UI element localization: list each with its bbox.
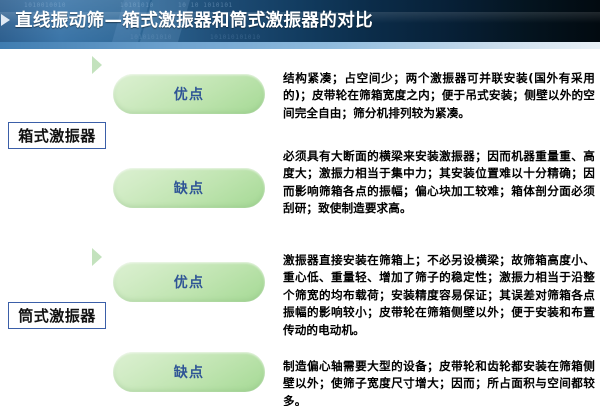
pill-disadvantages-box-type[interactable]: 缺点 bbox=[113, 168, 265, 208]
pill-label: 优点 bbox=[174, 272, 204, 292]
pill-label: 缺点 bbox=[174, 178, 204, 198]
pill-disadvantages-cylinder-type[interactable]: 缺点 bbox=[113, 352, 265, 392]
description-disadvantages-cylinder-type: 制造偏心轴需要大型的设备；皮带轮和齿轮都安装在筛箱侧壁以外；使筛子宽度尺寸增大；… bbox=[283, 358, 595, 406]
page-title: 直线振动筛—箱式激振器和筒式激振器的对比 bbox=[15, 7, 373, 32]
pill-advantages-cylinder-type[interactable]: 优点 bbox=[113, 262, 265, 302]
group-pointer-icon-bottom bbox=[92, 248, 102, 266]
binary-texture-icon: 101010101010 bbox=[210, 34, 261, 41]
pill-label: 缺点 bbox=[174, 362, 204, 382]
title-underline-band bbox=[0, 42, 600, 49]
description-disadvantages-box-type: 必须具有大断面的横梁来安装激振器；因而机器重量重、高度大；激振力相当于集中力；其… bbox=[283, 148, 595, 218]
group-pointer-icon-top bbox=[92, 56, 102, 74]
slide-title-bar: 1010010010 10101010 10 10 1010101 101010… bbox=[0, 0, 600, 42]
binary-texture-icon: 1010101010 bbox=[130, 34, 172, 41]
category-label-text: 筒式激振器 bbox=[18, 305, 96, 326]
category-label-box-box-type: 箱式激振器 bbox=[8, 122, 106, 149]
description-advantages-box-type: 结构紧凑；占空间少；两个激振器可并联安装(国外有采用的)；皮带轮在筛箱宽度之内；… bbox=[283, 70, 595, 122]
description-advantages-cylinder-type: 激振器直接安装在筛箱上；不必另设横梁；故筛箱高度小、重心低、重量轻、增加了筛子的… bbox=[283, 252, 595, 339]
category-label-box-cylinder-type: 筒式激振器 bbox=[8, 302, 106, 329]
pill-advantages-box-type[interactable]: 优点 bbox=[113, 74, 265, 114]
category-label-text: 箱式激振器 bbox=[18, 125, 96, 146]
right-arrow-icon bbox=[1, 14, 10, 26]
slide-canvas: 1010010010 10101010 10 10 1010101 101010… bbox=[0, 0, 600, 406]
pill-label: 优点 bbox=[174, 84, 204, 104]
